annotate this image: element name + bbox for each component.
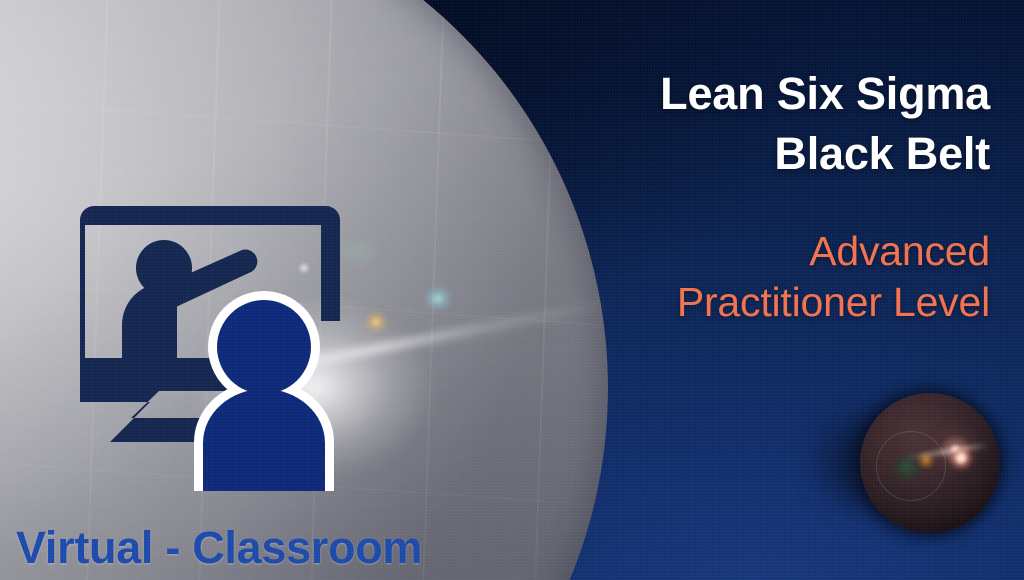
dark-sphere — [860, 393, 1000, 533]
headline-block: Lean Six Sigma Black Belt Advanced Pract… — [520, 64, 990, 329]
course-subtitle: Advanced Practitioner Level — [520, 226, 990, 329]
course-title-line-2: Black Belt — [774, 128, 990, 179]
course-subtitle-line-2: Practitioner Level — [677, 279, 990, 325]
course-banner: Lean Six Sigma Black Belt Advanced Pract… — [0, 0, 1024, 580]
virtual-classroom-icon — [66, 206, 396, 491]
delivery-mode-caption: Virtual - Classroom — [16, 522, 422, 574]
course-title-line-1: Lean Six Sigma — [660, 68, 990, 119]
course-title: Lean Six Sigma Black Belt — [520, 64, 990, 184]
dark-sphere-highlight — [948, 445, 974, 471]
course-subtitle-line-1: Advanced — [809, 228, 990, 274]
